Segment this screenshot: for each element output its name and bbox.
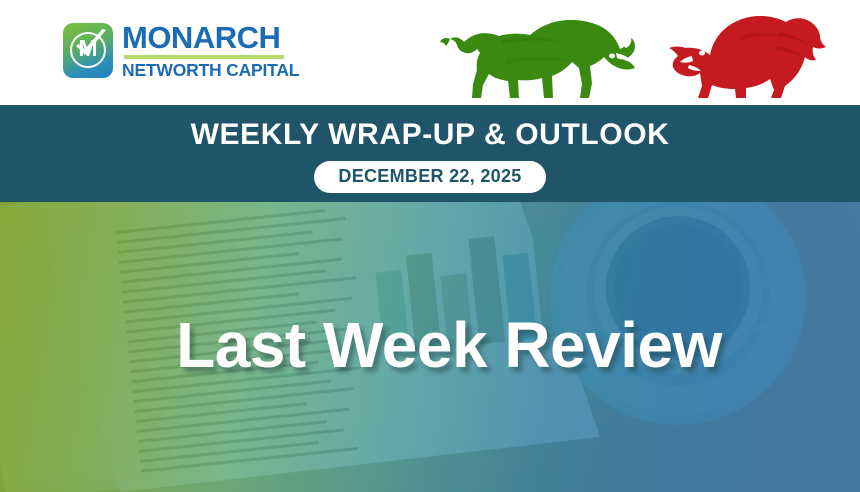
monarch-m-check-icon: M: [63, 23, 113, 78]
brand-name: MONARCH: [122, 22, 299, 53]
banner-strip: WEEKLY WRAP-UP & OUTLOOK DECEMBER 22, 20…: [0, 105, 860, 202]
date-badge: DECEMBER 22, 2025: [314, 161, 545, 193]
brand-logo[interactable]: M MONARCH NETWORTH CAPITAL: [63, 22, 299, 80]
brand-divider-rule: [124, 55, 284, 59]
red-bear-icon: [669, 16, 826, 98]
header-bar: M MONARCH NETWORTH CAPITAL: [0, 0, 860, 105]
weekly-wrapup-poster: M MONARCH NETWORTH CAPITAL: [0, 0, 860, 492]
hero-title: Last Week Review: [176, 308, 722, 382]
logo-check-icon: [72, 29, 108, 61]
green-bull-icon: [440, 20, 635, 98]
bull-and-bear-artwork: [440, 6, 840, 105]
brand-wordmark: MONARCH NETWORTH CAPITAL: [122, 22, 299, 80]
hero-section: Last Week Review: [0, 202, 860, 492]
brand-subtitle: NETWORTH CAPITAL: [122, 62, 299, 80]
hero-title-wrap: Last Week Review: [0, 202, 860, 492]
page-title: WEEKLY WRAP-UP & OUTLOOK: [191, 118, 670, 152]
